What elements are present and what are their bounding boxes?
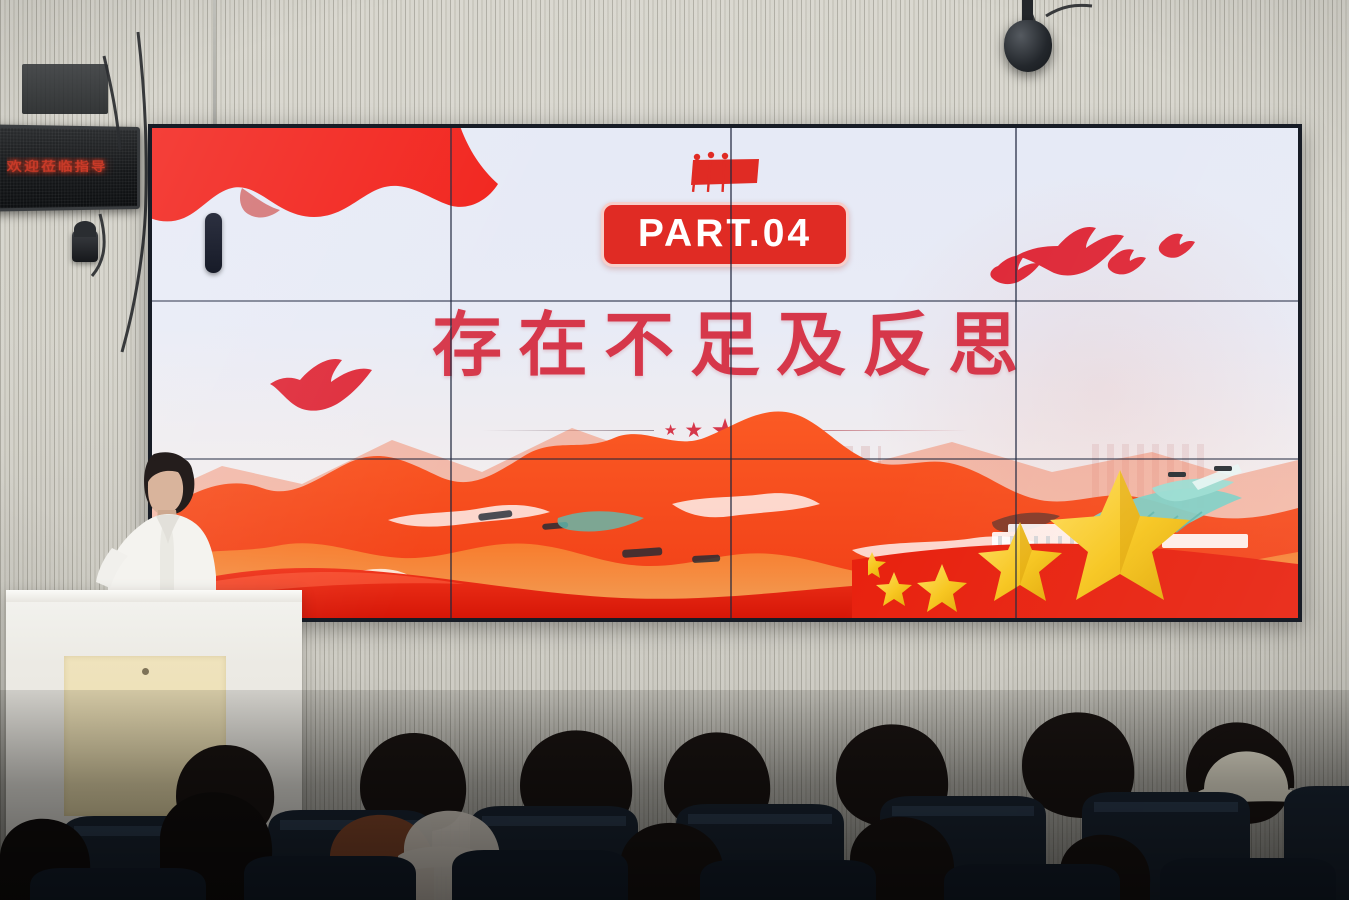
part-badge[interactable]: PART.04: [601, 202, 849, 267]
red-flag-banner: [152, 128, 498, 308]
audience-area: [0, 690, 1349, 900]
ceiling-camera: [1004, 20, 1052, 72]
hanging-microphone: [205, 213, 222, 273]
video-wall-screen[interactable]: PART.04 存在不足及反思 ★ ★ ★ ★ ★: [152, 128, 1298, 618]
small-flag-icon: [681, 150, 769, 198]
audience-silhouettes: [0, 690, 1349, 900]
podium-knob: [142, 668, 149, 675]
part-badge-label: PART.04: [638, 214, 812, 253]
section-badge-group: PART.04: [575, 202, 875, 267]
presenter-speaker: [86, 452, 256, 600]
wall-speaker: [72, 230, 98, 262]
gold-star-small-3: [868, 552, 886, 578]
presentation-hall-photo: 欢迎莅临指导: [0, 0, 1349, 900]
led-display-mount: [22, 64, 108, 114]
led-scrolling-display: 欢迎莅临指导: [0, 124, 140, 211]
podium-top-surface: [6, 590, 302, 602]
gold-stars-group: [868, 448, 1298, 618]
gold-star-small-2: [876, 572, 912, 606]
gold-star-small-1: [917, 564, 967, 612]
led-display-text: 欢迎莅临指导: [7, 157, 122, 177]
